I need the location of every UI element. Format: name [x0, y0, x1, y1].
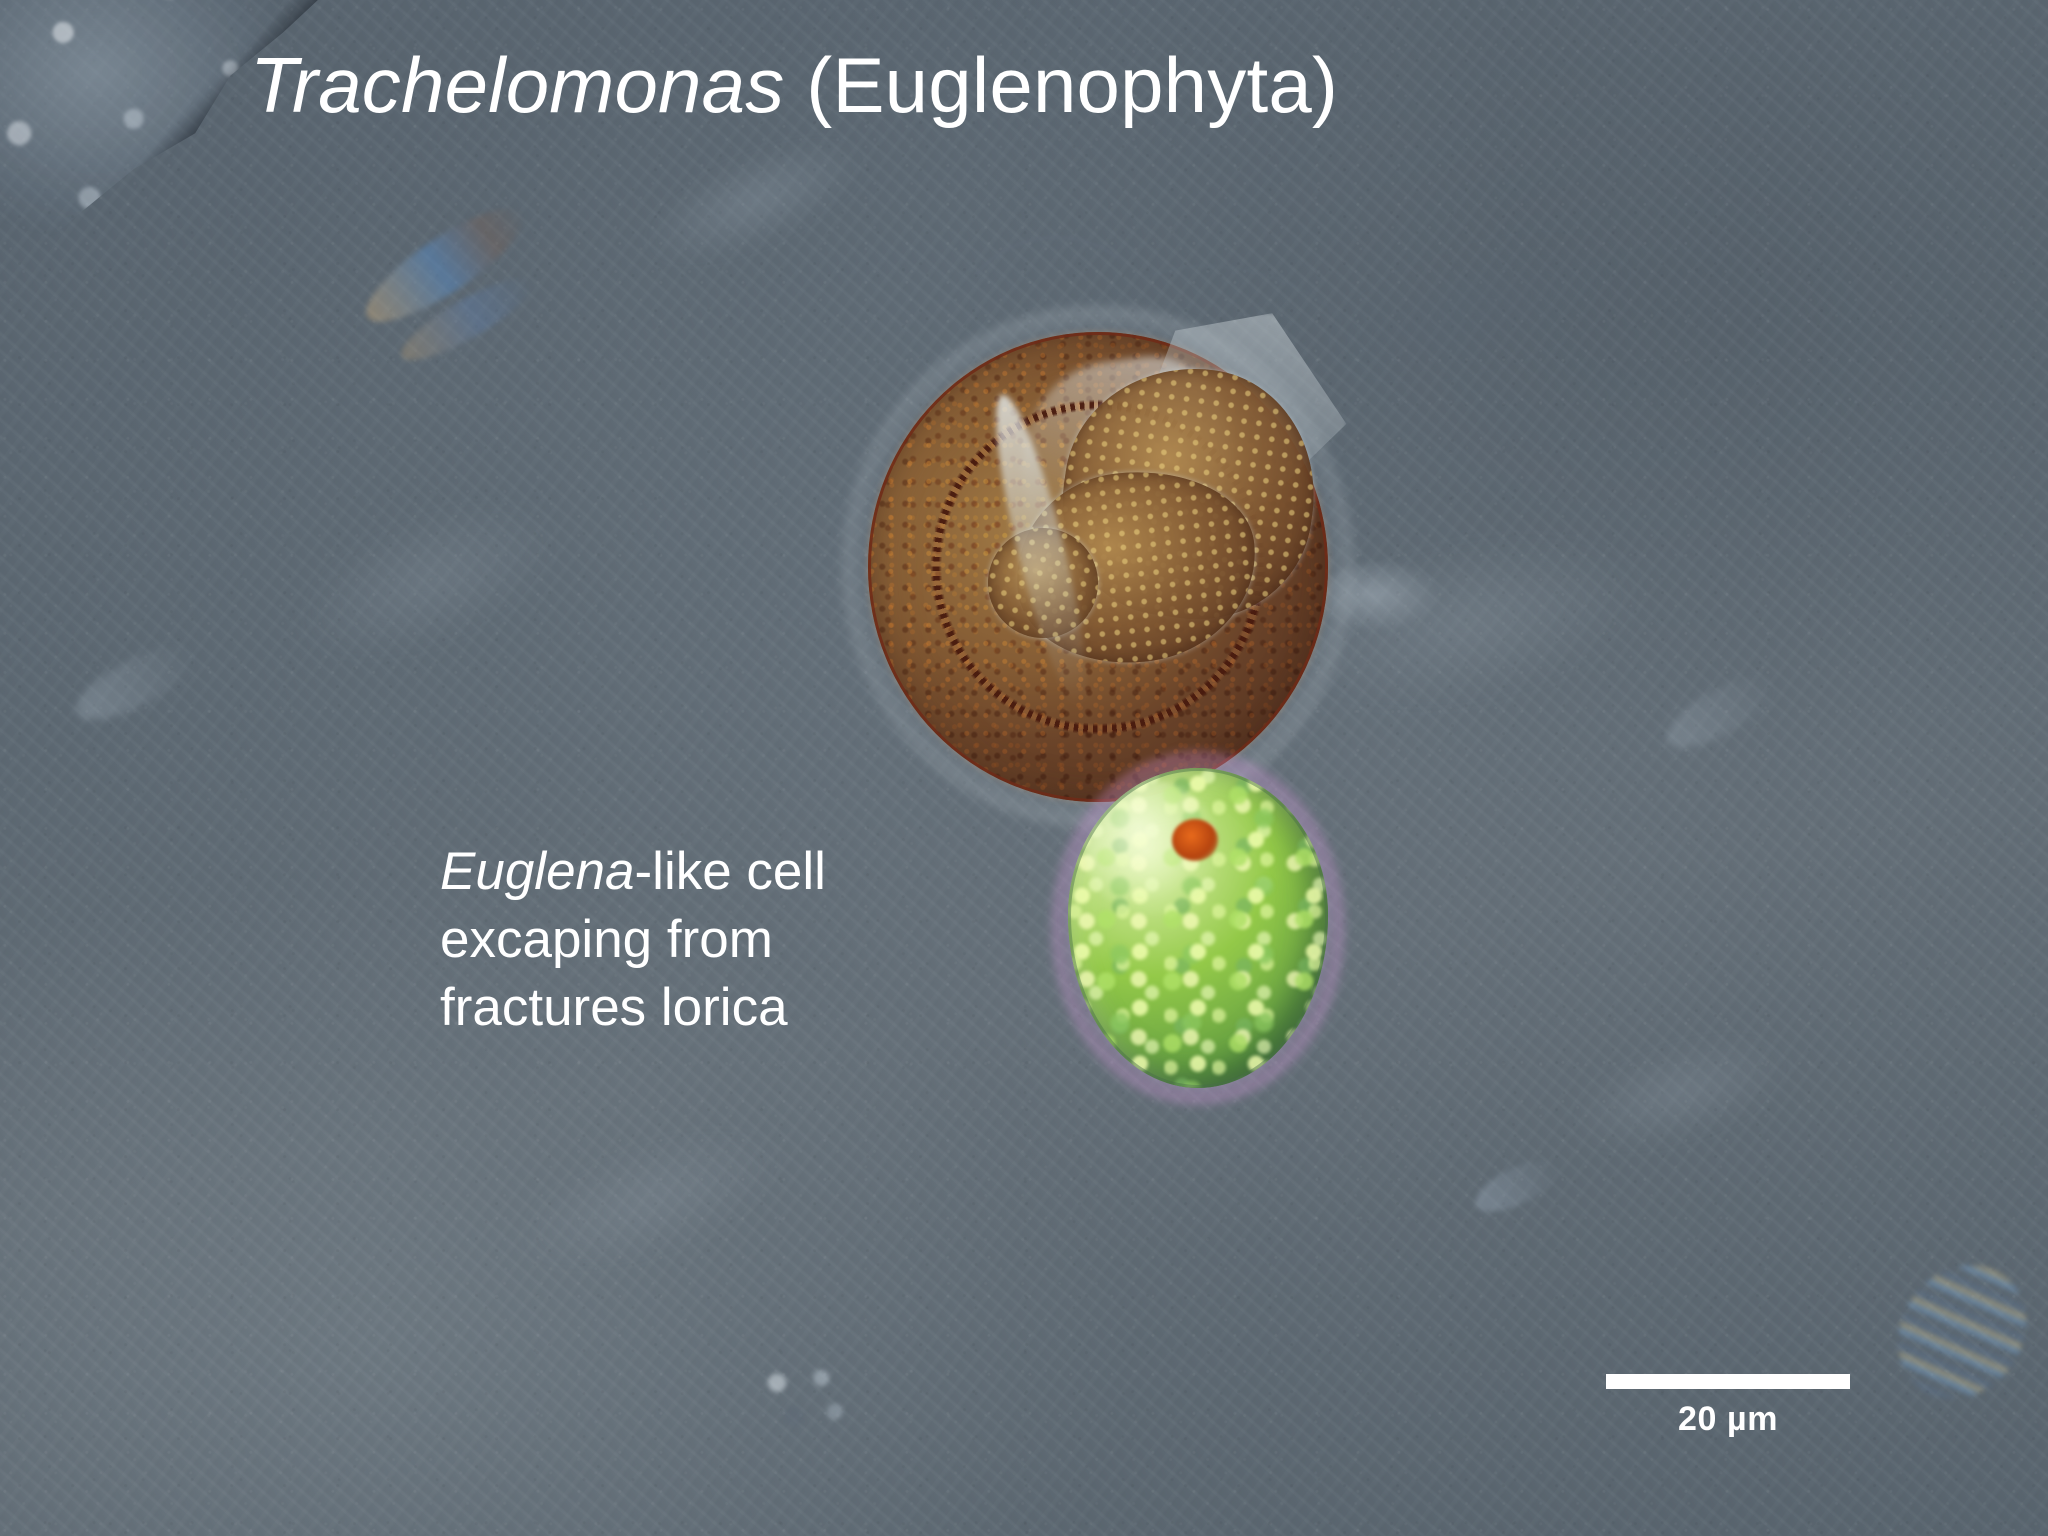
- caption-line-1-rest: -like cell: [635, 842, 826, 901]
- page-title: Trachelomonas (Euglenophyta): [250, 44, 1338, 127]
- caption-line-1: Euglena-like cell: [440, 838, 826, 906]
- scale-bar-group: 20 µm: [1606, 1374, 1850, 1439]
- scale-bar: [1606, 1374, 1850, 1389]
- title-genus: Trachelomonas: [250, 41, 784, 129]
- escaping-euglena-like-cell: [1068, 768, 1328, 1088]
- caption-block: Euglena-like cell excaping from fracture…: [440, 838, 826, 1042]
- caption-species: Euglena: [440, 842, 635, 901]
- title-group: (Euglenophyta): [784, 41, 1338, 129]
- micrograph-slide: Trachelomonas (Euglenophyta) Euglena-lik…: [0, 0, 2048, 1536]
- caption-line-3: fractures lorica: [440, 974, 826, 1042]
- micrograph-background: [0, 0, 2048, 1536]
- scale-bar-label: 20 µm: [1606, 1400, 1850, 1439]
- fractured-lorica: [868, 332, 1328, 802]
- caption-line-2: excaping from: [440, 906, 826, 974]
